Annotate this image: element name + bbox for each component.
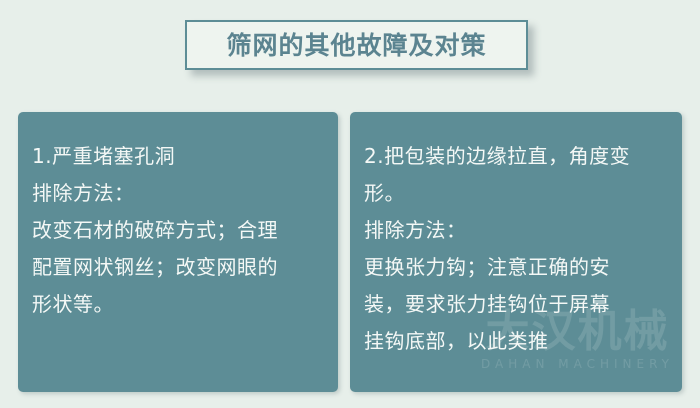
panel-left-line-3: 改变石材的破碎方式；合理: [32, 212, 324, 249]
panel-left-line-5: 形状等。: [32, 286, 324, 323]
panel-right-line-4: 更换张力钩；注意正确的安: [364, 249, 668, 286]
panel-right-line-1: 2.把包装的边缘拉直，角度变: [364, 138, 668, 175]
content-panel-right: 2.把包装的边缘拉直，角度变 形。 排除方法： 更换张力钩；注意正确的安 装，要…: [350, 112, 682, 392]
panel-right-line-6: 挂钩底部，以此类推: [364, 323, 668, 360]
page-title: 筛网的其他故障及对策: [226, 33, 486, 58]
panel-left-line-2: 排除方法：: [32, 175, 324, 212]
panel-right-line-3: 排除方法：: [364, 212, 668, 249]
content-panel-left: 1.严重堵塞孔洞 排除方法： 改变石材的破碎方式；合理 配置网状钢丝；改变网眼的…: [18, 112, 338, 392]
panel-left-line-1: 1.严重堵塞孔洞: [32, 138, 324, 175]
panel-right-line-2: 形。: [364, 175, 668, 212]
panel-right-line-5: 装，要求张力挂钩位于屏幕: [364, 286, 668, 323]
panel-left-body: 1.严重堵塞孔洞 排除方法： 改变石材的破碎方式；合理 配置网状钢丝；改变网眼的…: [18, 112, 338, 323]
panel-right-body: 2.把包装的边缘拉直，角度变 形。 排除方法： 更换张力钩；注意正确的安 装，要…: [350, 112, 682, 360]
title-banner: 筛网的其他故障及对策: [185, 20, 528, 70]
panel-left-line-4: 配置网状钢丝；改变网眼的: [32, 249, 324, 286]
